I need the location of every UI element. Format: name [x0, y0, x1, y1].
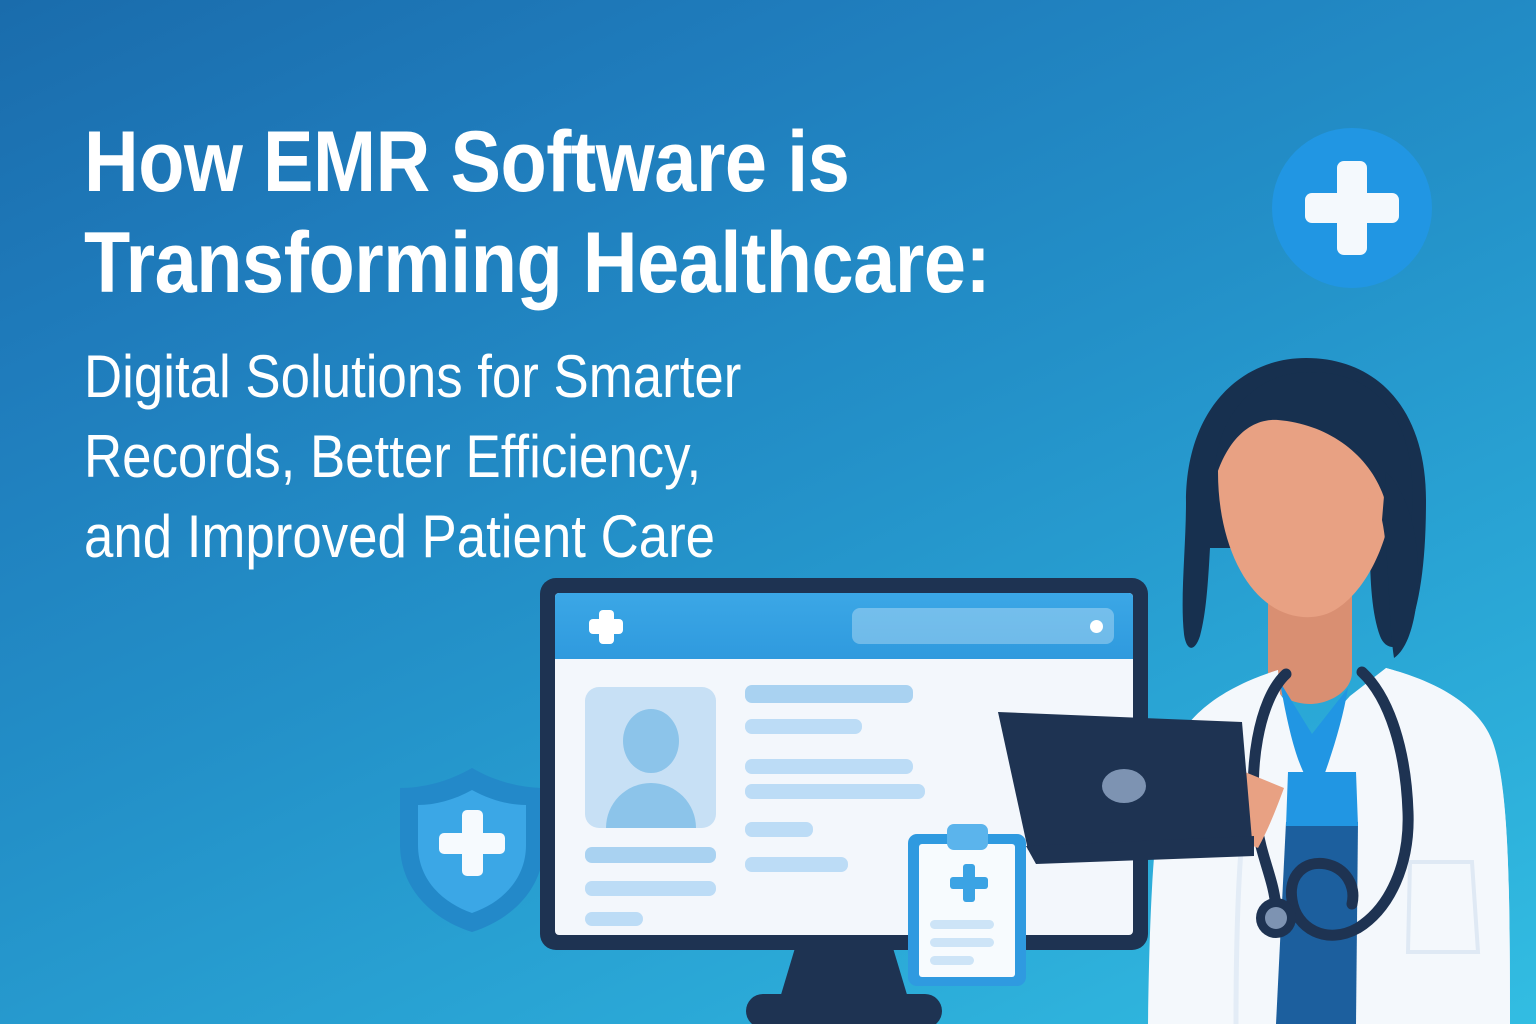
patient-avatar-card[interactable]: [585, 687, 716, 828]
placeholder-line: [585, 912, 643, 926]
placeholder-line: [585, 847, 716, 863]
doctor-figure: [1090, 352, 1536, 1024]
placeholder-line: [745, 784, 925, 799]
placeholder-line: [585, 881, 716, 896]
clipboard-line: [930, 920, 994, 929]
clipboard-line: [930, 956, 974, 965]
page-title: How EMR Software is Transforming Healthc…: [84, 112, 1017, 315]
subtitle-line-2: Records, Better Efficiency,: [84, 417, 1017, 497]
clipboard-line: [930, 938, 994, 947]
stethoscope-diaphragm: [1265, 907, 1287, 929]
subtitle-line-1: Digital Solutions for Smarter: [84, 337, 1017, 417]
hero-banner: How EMR Software is Transforming Healthc…: [0, 0, 1536, 1024]
subtitle-line-3: and Improved Patient Care: [84, 497, 1017, 577]
avatar-body: [606, 783, 696, 828]
page-subtitle: Digital Solutions for Smarter Records, B…: [84, 337, 1017, 576]
placeholder-line: [745, 719, 862, 734]
search-input[interactable]: [852, 608, 1114, 644]
placeholder-line: [745, 685, 913, 703]
cross-horizontal-bar: [1305, 193, 1399, 223]
headline-block: How EMR Software is Transforming Healthc…: [84, 112, 1144, 576]
laptop-shape: [984, 700, 1254, 870]
scrubs-mid: [1286, 772, 1358, 826]
clipboard-clip: [947, 824, 988, 850]
placeholder-line: [745, 759, 913, 774]
clipboard-cross-horizontal: [950, 877, 988, 889]
placeholder-line: [745, 822, 813, 837]
shield-medical-cross-icon: [388, 764, 556, 936]
avatar-head: [623, 709, 679, 773]
laptop-logo: [1102, 769, 1146, 803]
headline-line-2: Transforming Healthcare:: [84, 213, 1017, 314]
placeholder-line: [745, 857, 848, 872]
app-header-bar: [555, 593, 1133, 659]
female-doctor-illustration: [1090, 352, 1536, 1024]
medical-cross-circle-icon: [1272, 128, 1432, 288]
headline-line-1: How EMR Software is: [84, 112, 1017, 213]
app-logo-cross-horizontal: [589, 619, 623, 634]
shield-cross-horizontal-bar: [439, 833, 505, 854]
laptop: [984, 700, 1254, 870]
